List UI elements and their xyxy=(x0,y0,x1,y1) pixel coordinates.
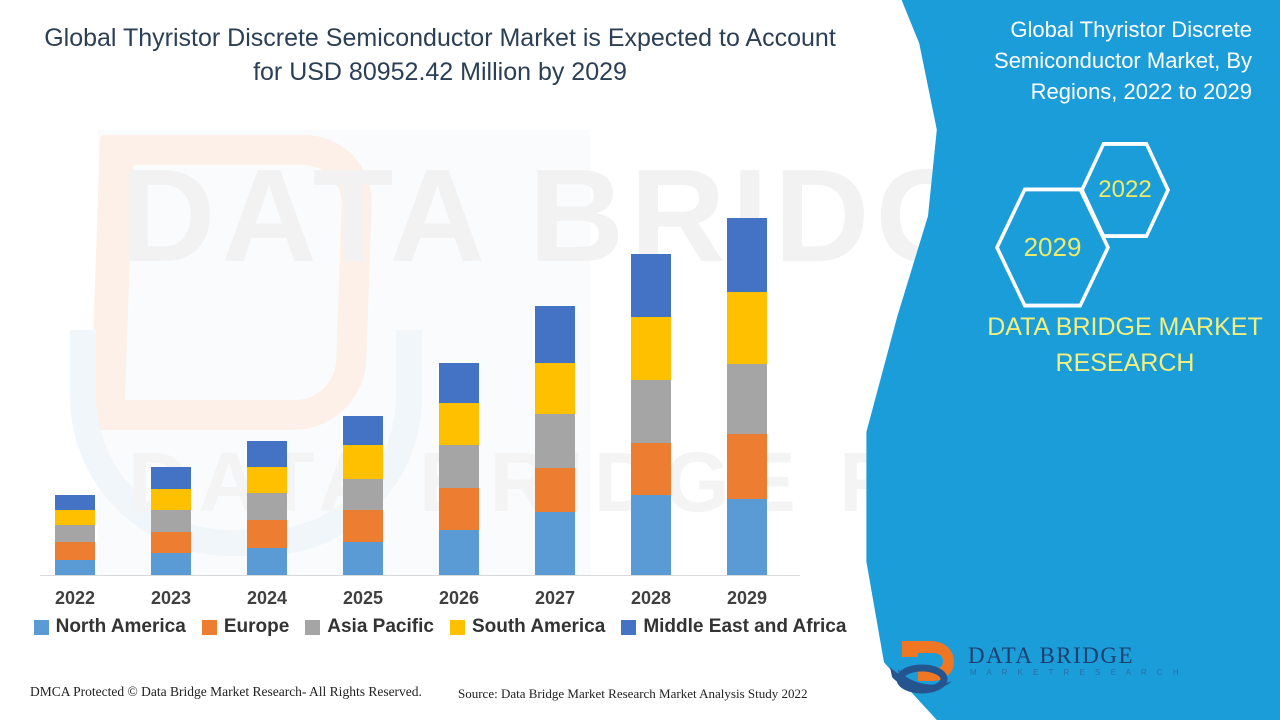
legend-swatch-icon xyxy=(202,620,217,635)
legend-item-asia-pacific[interactable]: Asia Pacific xyxy=(305,616,434,638)
x-axis-label-2027: 2027 xyxy=(515,588,595,609)
x-axis-label-2026: 2026 xyxy=(419,588,499,609)
bar-segment-north-america xyxy=(343,542,383,575)
hexagon-2022-label: 2022 xyxy=(1098,176,1151,204)
infographic-page: DATA BRIDGE DATA BRIDGE RESEARCH Global … xyxy=(0,0,1280,720)
x-axis-line xyxy=(40,575,800,576)
brand-line-2: RESEARCH xyxy=(965,346,1280,382)
logo-name: DATA BRIDGE xyxy=(968,643,1134,669)
legend-swatch-icon xyxy=(621,620,636,635)
bar-segment-europe xyxy=(247,520,287,548)
bar-2028 xyxy=(631,254,671,575)
legend-item-south-america[interactable]: South America xyxy=(450,616,605,638)
bar-segment-north-america xyxy=(727,499,767,575)
bar-segment-europe xyxy=(631,443,671,495)
x-axis-label-2025: 2025 xyxy=(323,588,403,609)
bar-2023 xyxy=(151,467,191,575)
source-text: Source: Data Bridge Market Research Mark… xyxy=(458,686,807,702)
bar-segment-north-america xyxy=(535,512,575,575)
bar-segment-asia-pacific xyxy=(151,510,191,532)
copyright-text: DMCA Protected © Data Bridge Market Rese… xyxy=(30,684,422,700)
bar-segment-europe xyxy=(439,488,479,530)
bar-segment-south-america xyxy=(727,292,767,364)
bar-2022 xyxy=(55,495,95,575)
bar-segment-north-america xyxy=(631,495,671,575)
legend-swatch-icon xyxy=(34,620,49,635)
bar-segment-south-america xyxy=(439,403,479,445)
legend-label: North America xyxy=(56,616,186,638)
bar-segment-south-america xyxy=(151,489,191,510)
bar-segment-north-america xyxy=(247,548,287,575)
x-axis-label-2023: 2023 xyxy=(131,588,211,609)
bar-segment-middle-east-and-africa xyxy=(151,467,191,489)
x-axis-label-2024: 2024 xyxy=(227,588,307,609)
bar-segment-asia-pacific xyxy=(727,364,767,434)
x-axis-labels: 20222023202420252026202720282029 xyxy=(0,588,880,616)
bar-segment-south-america xyxy=(631,317,671,380)
bar-segment-north-america xyxy=(55,560,95,575)
bar-segment-asia-pacific xyxy=(631,380,671,443)
brand-name: DATA BRIDGE MARKET RESEARCH xyxy=(965,310,1280,381)
bar-segment-europe xyxy=(55,542,95,560)
bar-segment-middle-east-and-africa xyxy=(247,441,287,467)
x-axis-label-2029: 2029 xyxy=(707,588,787,609)
bar-segment-europe xyxy=(535,468,575,512)
bar-2026 xyxy=(439,363,479,575)
page-title: Global Thyristor Discrete Semiconductor … xyxy=(30,22,850,90)
legend-item-europe[interactable]: Europe xyxy=(202,616,289,638)
legend-item-middle-east-and-africa[interactable]: Middle East and Africa xyxy=(621,616,846,638)
hexagon-2029: 2029 xyxy=(995,185,1110,310)
x-axis-label-2028: 2028 xyxy=(611,588,691,609)
bar-2027 xyxy=(535,306,575,575)
bar-segment-north-america xyxy=(439,530,479,575)
logo-subtitle: M A R K E T R E S E A R C H xyxy=(970,668,1183,677)
legend-swatch-icon xyxy=(305,620,320,635)
legend-label: South America xyxy=(472,616,605,638)
brand-line-1: DATA BRIDGE MARKET xyxy=(965,310,1280,346)
data-bridge-logo: DATA BRIDGE M A R K E T R E S E A R C H xyxy=(888,637,1108,697)
chart-legend: North AmericaEuropeAsia PacificSouth Ame… xyxy=(0,616,880,638)
bar-segment-middle-east-and-africa xyxy=(535,306,575,363)
panel-title: Global Thyristor Discrete Semiconductor … xyxy=(922,14,1252,108)
bar-segment-south-america xyxy=(247,467,287,493)
bar-2025 xyxy=(343,416,383,575)
bar-segment-asia-pacific xyxy=(247,493,287,520)
bar-segment-asia-pacific xyxy=(343,479,383,510)
bar-segment-asia-pacific xyxy=(55,525,95,542)
bar-segment-asia-pacific xyxy=(439,445,479,488)
legend-label: Asia Pacific xyxy=(327,616,434,638)
bar-segment-south-america xyxy=(535,363,575,414)
bar-segment-north-america xyxy=(151,553,191,575)
bar-segment-middle-east-and-africa xyxy=(727,218,767,292)
bar-2029 xyxy=(727,218,767,575)
logo-b-mark-icon xyxy=(888,637,966,695)
stacked-bar-chart xyxy=(0,130,880,580)
bar-2024 xyxy=(247,441,287,575)
bar-segment-middle-east-and-africa xyxy=(55,495,95,510)
legend-item-north-america[interactable]: North America xyxy=(34,616,186,638)
bar-segment-south-america xyxy=(55,510,95,525)
legend-swatch-icon xyxy=(450,620,465,635)
bar-segment-south-america xyxy=(343,445,383,479)
bar-segment-middle-east-and-africa xyxy=(631,254,671,317)
hexagon-2029-label: 2029 xyxy=(1024,232,1082,263)
bar-segment-middle-east-and-africa xyxy=(343,416,383,445)
bar-segment-europe xyxy=(151,532,191,553)
bar-segment-europe xyxy=(727,434,767,499)
x-axis-label-2022: 2022 xyxy=(35,588,115,609)
legend-label: Middle East and Africa xyxy=(643,616,846,638)
bar-segment-middle-east-and-africa xyxy=(439,363,479,403)
bar-segment-asia-pacific xyxy=(535,414,575,468)
legend-label: Europe xyxy=(224,616,289,638)
bar-segment-europe xyxy=(343,510,383,542)
